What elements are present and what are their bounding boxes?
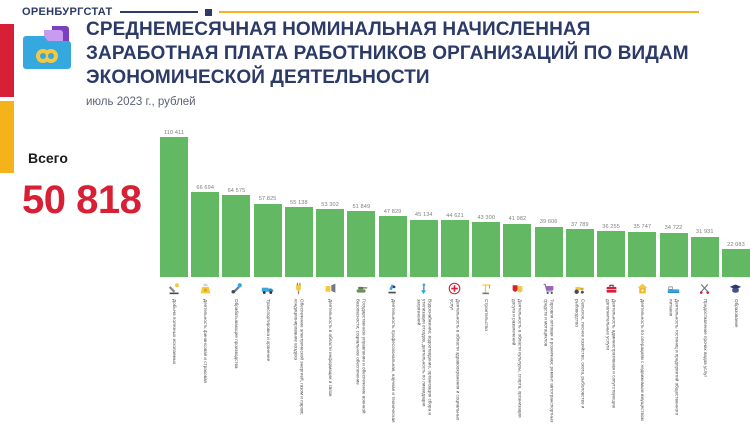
bar-category-label: Деятельность гостиниц и предприятий обще… — [668, 299, 679, 425]
bar-value-label: 22 083 — [727, 242, 745, 248]
tank-icon — [347, 279, 375, 297]
bar-category-label: Государственное управление и обеспечение… — [356, 299, 367, 425]
bar — [222, 195, 250, 277]
bar-category-label: Предоставление прочих видов услуг — [702, 299, 708, 425]
factory-tools-icon — [222, 279, 250, 297]
bar-category-label: Деятельность в области здравоохранения и… — [449, 299, 460, 425]
total-label: Всего — [28, 150, 68, 166]
bar-group: 66 694Деятельность финансовая и страхова… — [191, 118, 219, 434]
shopping-cart-icon — [535, 279, 563, 297]
bar-value-label: 110 411 — [164, 130, 184, 136]
decor-chip-red — [0, 24, 14, 97]
bar — [441, 220, 469, 277]
bar — [722, 249, 750, 277]
bar-group: 57 825Транспортировка и хранение — [254, 118, 282, 434]
water-tap-icon — [410, 279, 438, 297]
bar-category-label: Деятельность административная и сопутств… — [606, 299, 617, 425]
bar-category-label: Сельское, лесное хозяйство, охота, рыбол… — [574, 299, 585, 425]
bar — [691, 237, 719, 277]
bar-group: 35 747Деятельность по операциям с недвиж… — [628, 118, 656, 434]
bar-category-label: Деятельность финансовая и страховая — [202, 299, 208, 425]
bar-group: 44 621Деятельность в области здравоохран… — [441, 118, 469, 434]
brand-name: ОРЕНБУРГСТАТ — [22, 6, 113, 18]
bar-value-label: 44 621 — [446, 213, 464, 219]
brand-divider-yellow — [219, 11, 699, 13]
infographic-root: ОРЕНБУРГСТАТ СРЕДНЕМЕСЯЧНАЯ НОМИНАЛЬНАЯ … — [0, 0, 750, 434]
bar — [597, 231, 625, 277]
microscope-icon — [379, 279, 407, 297]
antenna-icon — [316, 279, 344, 297]
bar-value-label: 35 747 — [633, 224, 651, 230]
bar-group: 39 606Торговля оптовая и розничная; ремо… — [535, 118, 563, 434]
bar — [191, 192, 219, 277]
bar — [503, 224, 531, 277]
bar-category-label: Деятельность в области культуры, спорта,… — [512, 299, 523, 425]
bar — [566, 229, 594, 277]
bar-value-label: 31 931 — [696, 229, 714, 235]
bar — [285, 207, 313, 277]
bar-group: 47 829Деятельность профессиональная, нау… — [379, 118, 407, 434]
graduation-cap-icon — [722, 279, 750, 297]
oil-pump-icon — [160, 279, 188, 297]
bar-value-label: 57 825 — [259, 196, 277, 202]
briefcase-icon — [597, 279, 625, 297]
bar-value-label: 66 694 — [196, 185, 214, 191]
bar — [660, 233, 688, 277]
bar-value-label: 64 575 — [228, 188, 246, 194]
bar-group: 110 411Добыча полезных ископаемых — [160, 118, 188, 434]
crane-icon — [472, 279, 500, 297]
bar-value-label: 45 134 — [415, 212, 433, 218]
bar-group: 51 849Государственное управление и обесп… — [347, 118, 375, 434]
scissors-icon — [691, 279, 719, 297]
bar-group: 45 134Водоснабжение; водоотведение, орга… — [410, 118, 438, 434]
bar — [472, 222, 500, 277]
bar — [160, 137, 188, 277]
bar — [628, 232, 656, 277]
bar — [347, 211, 375, 277]
decor-chip-yellow — [0, 101, 14, 173]
bar — [410, 220, 438, 277]
truck-icon — [254, 279, 282, 297]
tractor-icon — [566, 279, 594, 297]
money-bag-icon — [191, 279, 219, 297]
medical-cross-icon — [441, 279, 469, 297]
bar-category-label: Образование — [733, 299, 739, 425]
brand-divider-navy — [120, 11, 198, 13]
house-key-icon — [628, 279, 656, 297]
bar — [379, 216, 407, 277]
bar-group: 37 789Сельское, лесное хозяйство, охота,… — [566, 118, 594, 434]
power-plug-icon — [285, 279, 313, 297]
bar-group: 53 302Деятельность в области информации … — [316, 118, 344, 434]
bar — [316, 209, 344, 277]
total-value: 50 818 — [22, 178, 141, 223]
bar — [254, 204, 282, 277]
bar-value-label: 34 722 — [665, 225, 683, 231]
bar-value-label: 37 789 — [571, 222, 589, 228]
hotel-bed-icon — [660, 279, 688, 297]
bar-value-label: 36 255 — [602, 224, 620, 230]
bar-value-label: 47 829 — [384, 209, 402, 215]
bar-category-label: Обрабатывающие производства — [234, 299, 240, 425]
page-title: СРЕДНЕМЕСЯЧНАЯ НОМИНАЛЬНАЯ НАЧИСЛЕННАЯ З… — [86, 18, 706, 90]
bar-group: 55 138Обеспечение электрической энергией… — [285, 118, 313, 434]
page-subtitle: июль 2023 г., рублей — [86, 96, 196, 108]
bar-category-label: Водоснабжение; водоотведение, организаци… — [415, 299, 432, 425]
bar-group: 34 722Деятельность гостиниц и предприяти… — [660, 118, 688, 434]
bar-category-label: Обеспечение электрической энергией, газо… — [293, 299, 304, 425]
bar-category-label: Строительство — [483, 299, 489, 425]
bar-chart: 110 411Добыча полезных ископаемых66 694Д… — [160, 118, 750, 434]
bar-group: 36 255Деятельность административная и со… — [597, 118, 625, 434]
bar-group: 64 575Обрабатывающие производства — [222, 118, 250, 434]
bar-group: 41 982Деятельность в области культуры, с… — [503, 118, 531, 434]
brand-row: ОРЕНБУРГСТАТ — [22, 6, 699, 18]
bar-category-label: Транспортировка и хранение — [265, 299, 271, 425]
bar-group: 31 931Предоставление прочих видов услуг — [691, 118, 719, 434]
bar-value-label: 51 849 — [352, 204, 370, 210]
theater-masks-icon — [503, 279, 531, 297]
bar-category-label: Добыча полезных ископаемых — [171, 299, 177, 425]
bar-category-label: Торговля оптовая и розничная; ремонт авт… — [543, 299, 554, 425]
folder-with-coins-icon — [22, 22, 78, 74]
bar-group: 43 300Строительство — [472, 118, 500, 434]
bar-category-label: Деятельность в области информации и связ… — [327, 299, 333, 425]
bar-value-label: 39 606 — [540, 219, 558, 225]
bar-category-label: Деятельность по операциям с недвижимым и… — [640, 299, 646, 425]
bar-category-label: Деятельность профессиональная, научная и… — [390, 299, 396, 425]
bar-value-label: 53 302 — [321, 202, 339, 208]
bar — [535, 227, 563, 277]
brand-square-marker — [205, 9, 212, 16]
bar-value-label: 55 138 — [290, 200, 308, 206]
bar-value-label: 41 982 — [509, 216, 527, 222]
bar-group: 22 083Образование — [722, 118, 750, 434]
bar-value-label: 43 300 — [477, 215, 495, 221]
